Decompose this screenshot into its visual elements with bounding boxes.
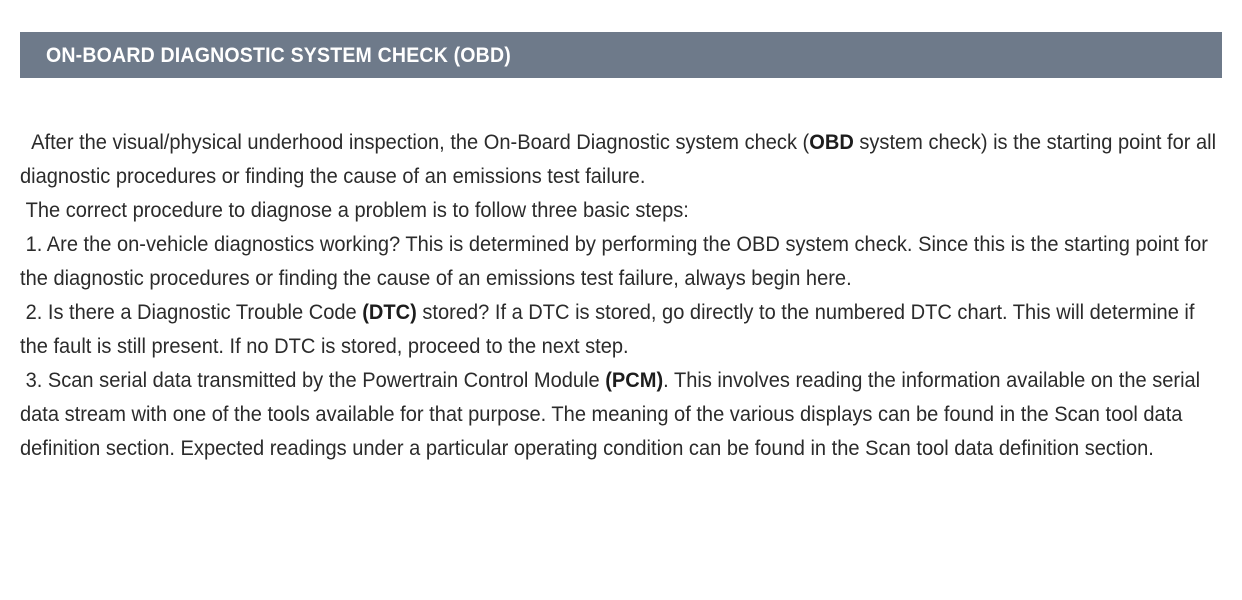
paragraph-step-3: 3. Scan serial data transmitted by the P…: [20, 364, 1222, 466]
text-run: (DTC): [362, 301, 417, 324]
text-run: The correct procedure to diagnose a prob…: [20, 199, 689, 222]
section-header-title: ON-BOARD DIAGNOSTIC SYSTEM CHECK (OBD): [46, 45, 511, 66]
paragraph-intro: After the visual/physical underhood insp…: [20, 126, 1222, 194]
body-copy: After the visual/physical underhood insp…: [20, 126, 1222, 466]
paragraph-procedure-lead-in: The correct procedure to diagnose a prob…: [20, 194, 1222, 228]
document-page: ON-BOARD DIAGNOSTIC SYSTEM CHECK (OBD) A…: [0, 0, 1242, 600]
text-run: 3. Scan serial data transmitted by the P…: [20, 369, 605, 392]
text-run: OBD: [809, 131, 854, 154]
text-run: After the visual/physical underhood insp…: [20, 131, 809, 154]
paragraph-step-1: 1. Are the on-vehicle diagnostics workin…: [20, 228, 1222, 296]
section-header-bar: ON-BOARD DIAGNOSTIC SYSTEM CHECK (OBD): [20, 32, 1222, 78]
text-run: 1. Are the on-vehicle diagnostics workin…: [20, 233, 1213, 290]
text-run: 2. Is there a Diagnostic Trouble Code: [20, 301, 362, 324]
text-run: (PCM): [605, 369, 663, 392]
paragraph-step-2: 2. Is there a Diagnostic Trouble Code (D…: [20, 296, 1222, 364]
